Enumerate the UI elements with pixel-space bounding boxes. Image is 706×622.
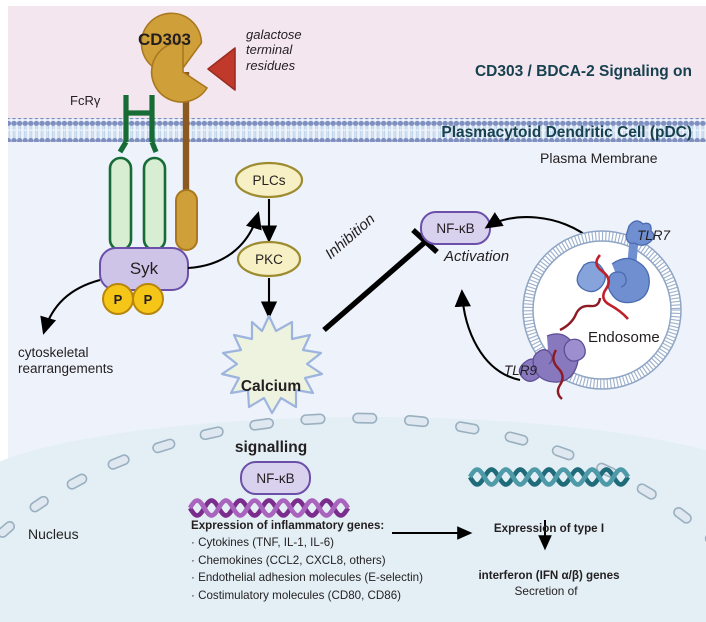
diagram-canvas: CD303 / BDCA-2 Signaling on Plasmacytoid… [0,0,706,622]
inflammatory-genes-list: · Cytokines (TNF, IL-1, IL-6)· Chemokine… [191,534,423,604]
calcium-line-2: signalling [218,438,324,458]
nuclear-envelope-segment [353,413,377,423]
arrow-syk-cytoskeleton [44,280,100,332]
plcs-label: PLCs [236,163,302,197]
nucleus-label: Nucleus [28,526,79,543]
phosphate-label-1: P [103,284,133,314]
nuclear-envelope-segment [404,415,428,426]
nuclear-envelope-segment [551,445,575,461]
ifn-secretion-label: Secretion of type I IFNs [486,552,606,622]
activation-label: Activation [444,248,509,266]
gene-list-item: · Cytokines (TNF, IL-1, IL-6) [191,534,423,552]
gene-list-item: · Chemokines (CCL2, CXCL8, others) [191,552,423,570]
plasma-membrane-label: Plasma Membrane [540,150,658,167]
nuclear-envelope-segment [504,431,528,446]
nuclear-envelope-segment [66,473,88,491]
title-line-1: CD303 / BDCA-2 Signaling on [392,62,692,82]
nfkb-nuclear-label: NF-κB [241,462,310,494]
gene-list-item: · Endothelial adhesion molecules (E-sele… [191,569,423,587]
nuclear-envelope-segment [672,506,693,525]
cytoskeletal-rearrangements-label: cytoskeletal rearrangements [18,345,113,377]
ifn-line-1: Expression of type I [474,521,624,537]
tlr7-label: TLR7 [637,228,670,244]
dna-helix-interferon [470,470,628,485]
nuclear-envelope-segment [107,454,130,471]
fcr-gamma-label: FcRγ [70,93,100,108]
cd303-label: CD303 [138,30,191,50]
pkc-label: PKC [238,242,300,276]
phosphate-label-2: P [133,284,163,314]
calcium-line-1: Calcium [218,377,324,397]
dna-helix-inflammatory [190,501,348,516]
title-line-2: Plasmacytoid Dendritic Cell (pDC) [392,123,692,143]
nuclear-envelope-segment [29,495,50,514]
galactose-residues-label: galactose terminal residues [246,27,302,73]
tlr9-label: TLR9 [504,363,537,379]
nuclear-envelope-segment [455,421,479,434]
nfkb-cytoplasmic-label: NF-κB [421,212,490,244]
endosome-label: Endosome [588,329,660,347]
secretion-line-1: Secretion of [486,584,606,600]
nuclear-envelope-segment [0,520,16,539]
nuclear-envelope-segment [636,482,658,500]
nuclear-envelope-segment [152,438,176,453]
gene-list-item: · Costimulatory molecules (CD80, CD86) [191,587,423,605]
inflammatory-genes-heading: Expression of inflammatory genes: [191,519,384,533]
